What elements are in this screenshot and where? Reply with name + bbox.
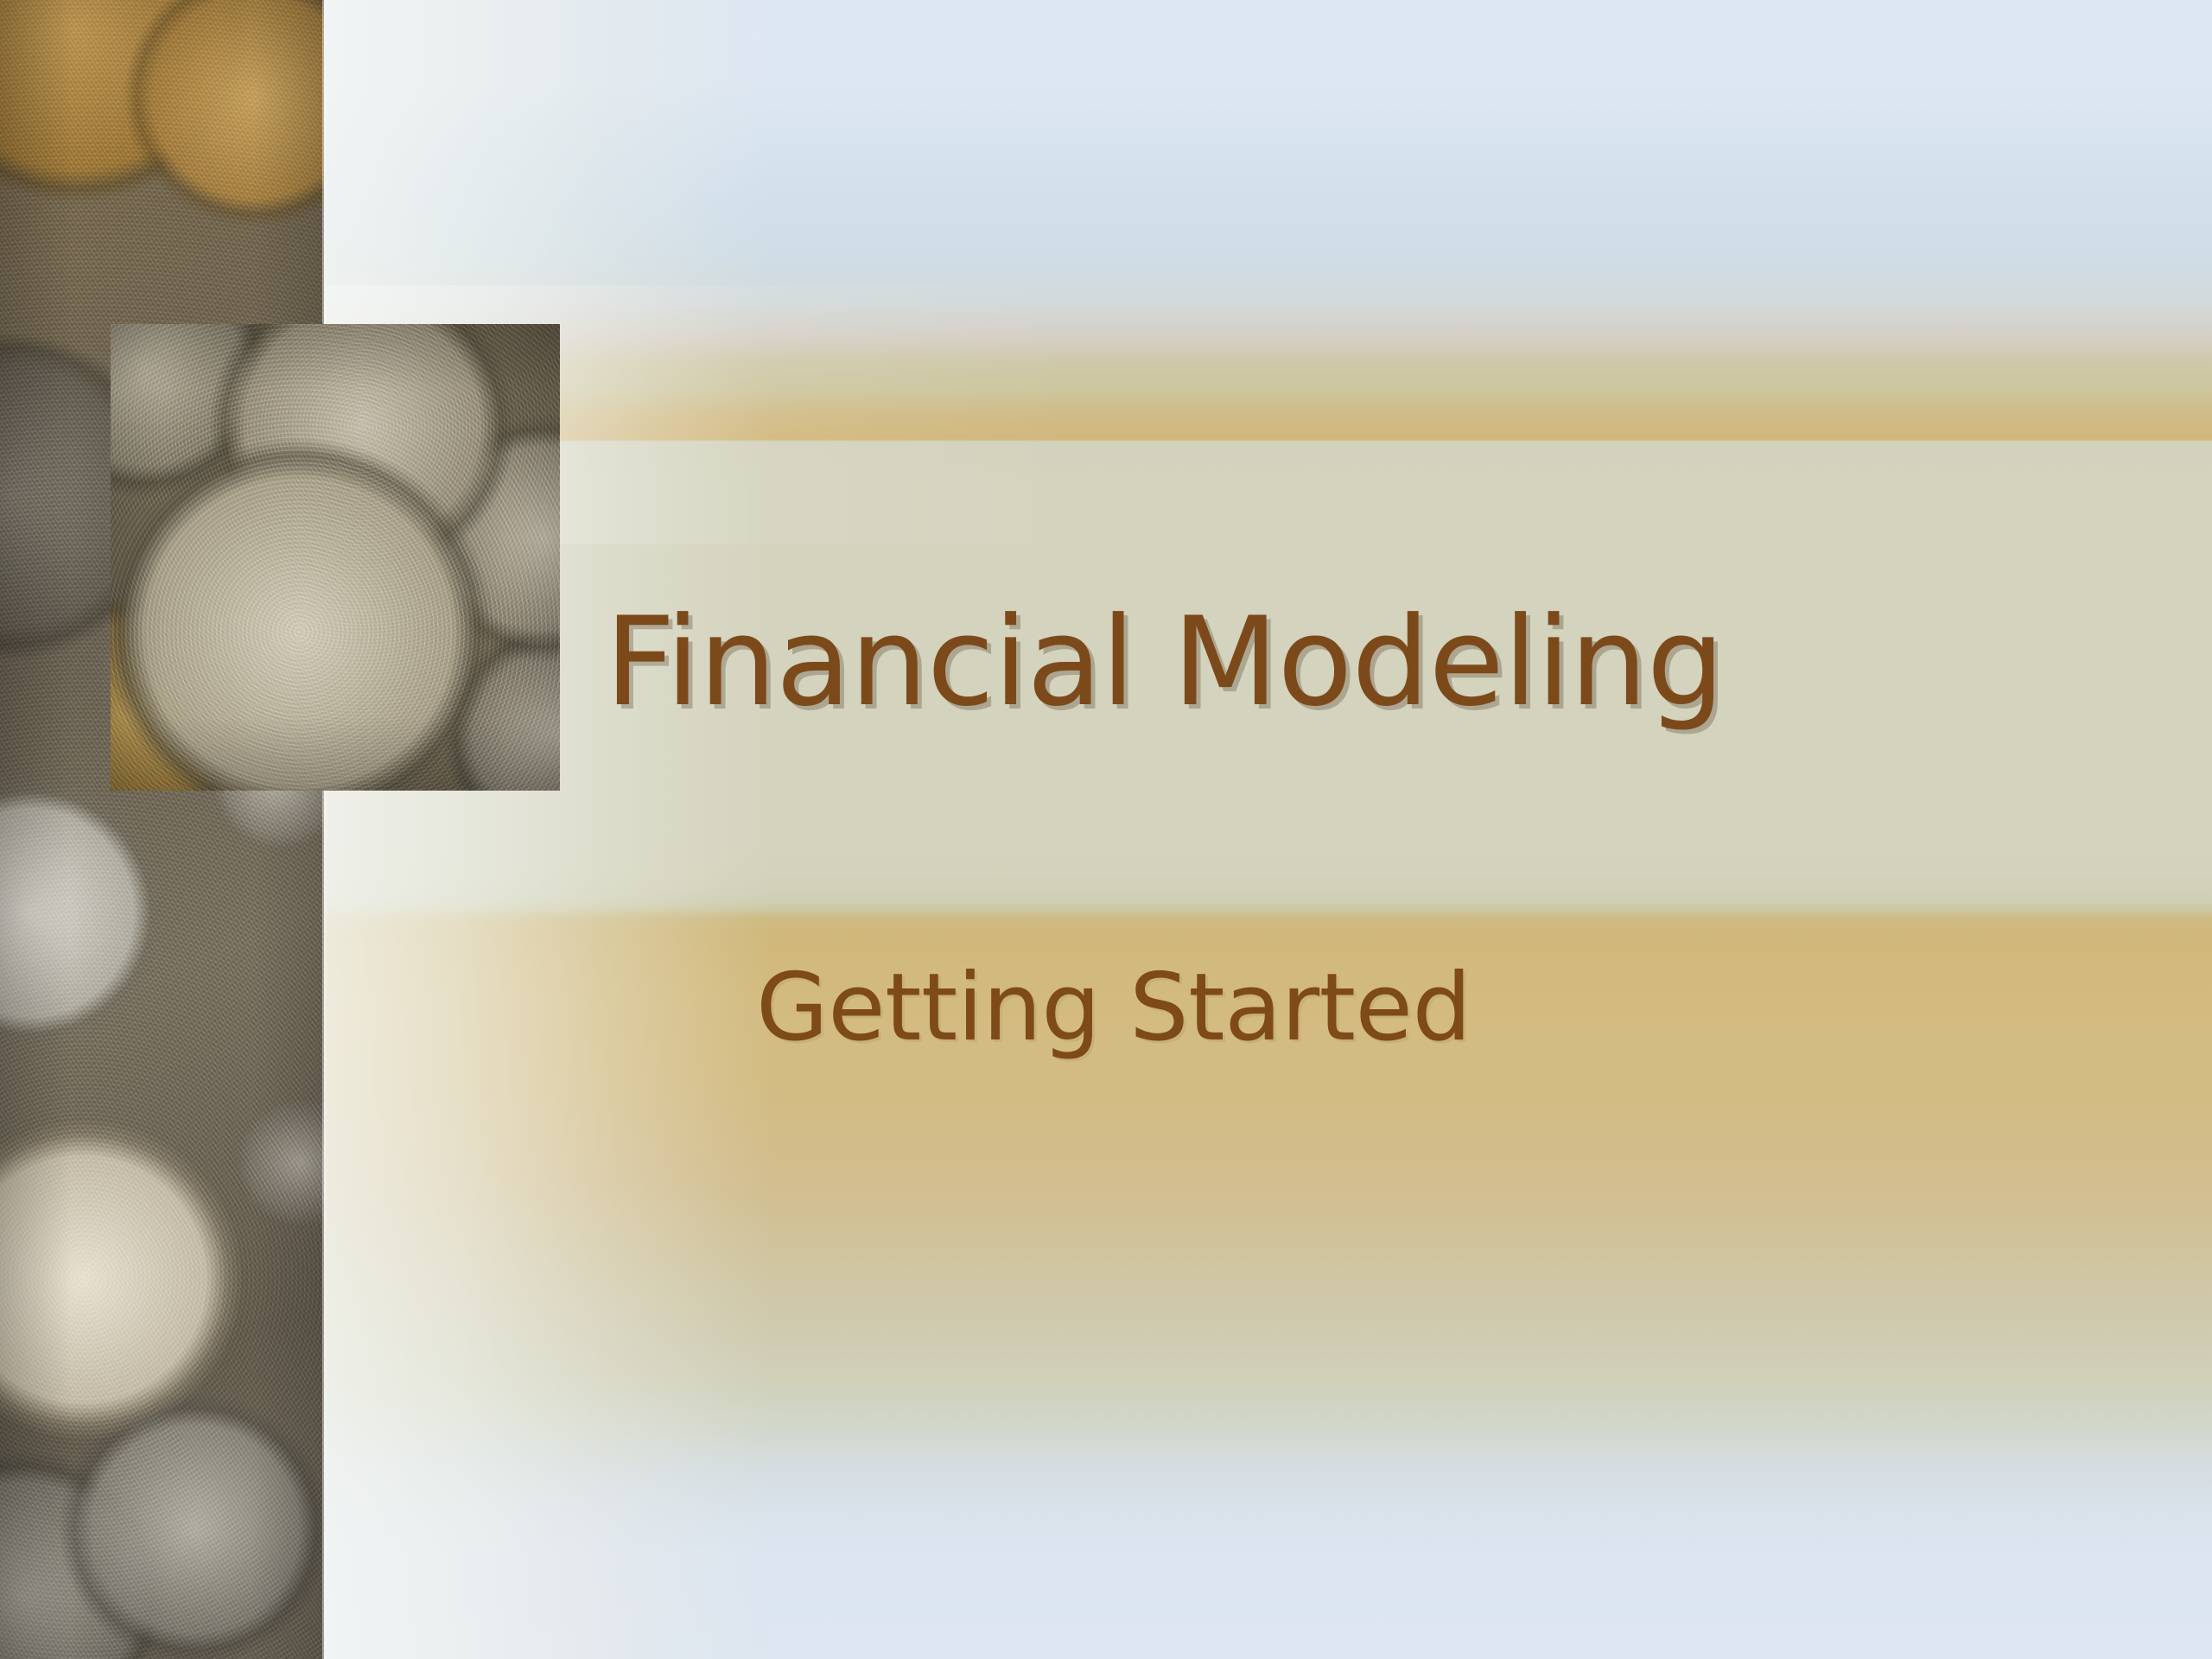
slide-title: Financial Modeling: [605, 596, 2108, 728]
slide-subtitle: Getting Started: [756, 957, 2104, 1060]
title-placeholder: Financial Modeling: [605, 596, 2108, 728]
presentation-slide: Financial Modeling Getting Started: [0, 0, 2212, 1659]
coin-photo-strip: [0, 0, 324, 1659]
slide-background-bands: [0, 0, 2212, 1659]
coins-closeup-vignette: [111, 324, 560, 791]
coin-strip-vignette: [0, 0, 324, 1659]
subtitle-placeholder: Getting Started: [756, 957, 2104, 1060]
coins-closeup-image: [111, 324, 560, 791]
